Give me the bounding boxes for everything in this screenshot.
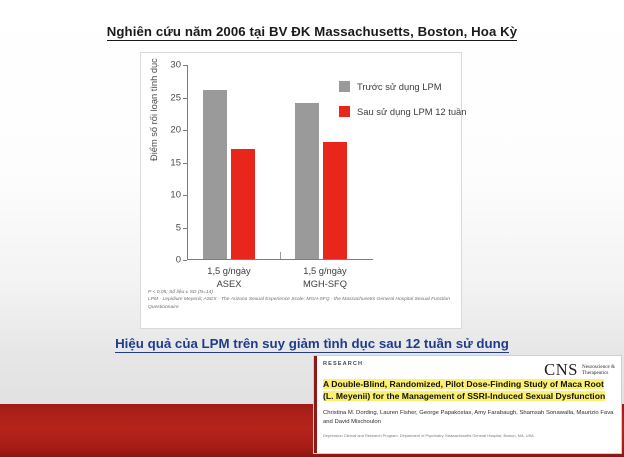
chart-y-axis [187,65,188,260]
slide-title-text: Nghiên cứu năm 2006 tại BV ĐK Massachuse… [107,24,517,41]
cns-wordmark: CNS [544,362,578,378]
slide-title: Nghiên cứu năm 2006 tại BV ĐK Massachuse… [0,24,624,39]
chart-legend: Trước sử dụng LPM Sau sử dụng LPM 12 tuầ… [339,81,466,131]
bar-asex-before [203,90,227,259]
bar-asex-after [231,149,255,260]
chart-y-axis-title: Điểm số rối loạn tình dục [149,58,159,161]
paper-authors: Christina M. Dording, Lauren Fisher, Geo… [323,409,615,426]
cns-logo-subtitle-line2: Therapeutics [582,370,615,376]
presentation-slide: Nghiên cứu năm 2006 tại BV ĐK Massachuse… [0,0,624,457]
chart-panel: Điểm số rối loạn tình dục 0 5 10 15 20 2… [140,52,462,329]
legend-swatch-after-icon [339,106,350,117]
cns-journal-logo: CNS Neuroscience & Therapeutics [544,362,615,378]
legend-item-before: Trước sử dụng LPM [339,81,466,92]
legend-item-after: Sau sử dụng LPM 12 tuần [339,106,466,117]
chart-category-mghsfq: 1,5 g/ngày MGH-SFQ [279,265,371,291]
legend-swatch-before-icon [339,81,350,92]
chart-category-asex: 1,5 g/ngày ASEX [183,265,275,291]
slide-subtitle: Hiệu quả của LPM trên suy giảm tình dục … [0,336,624,351]
chart-group-divider [280,252,281,259]
legend-label-before: Trước sử dụng LPM [357,81,442,92]
paper-title-text: A Double-Blind, Randomized, Pilot Dose-F… [323,379,605,401]
chart-footnote-abbreviations: LPM - Lepidium Meyenii; ASEX - The Arizo… [148,296,456,303]
chart-footnote-significance: P < 0,05; Số liệu ± SD (N=14) [148,289,456,296]
chart-category-mghsfq-dose: 1,5 g/ngày [279,265,371,278]
legend-label-after: Sau sử dụng LPM 12 tuần [357,106,466,117]
paper-content: RESEARCH CNS Neuroscience & Therapeutics… [323,361,615,439]
chart-footnote-abbreviations-cont: Questionnaire [148,304,456,311]
chart-category-asex-dose: 1,5 g/ngày [183,265,275,278]
paper-citation-card: RESEARCH CNS Neuroscience & Therapeutics… [313,355,622,454]
paper-accent-rule [314,356,317,453]
bar-mghsfq-after [323,142,347,259]
chart-footnotes: P < 0,05; Số liệu ± SD (N=14) LPM - Lepi… [148,289,456,311]
paper-title: A Double-Blind, Randomized, Pilot Dose-F… [323,378,615,402]
cns-logo-subtitle: Neuroscience & Therapeutics [582,364,615,376]
paper-affiliation: Depression Clinical and Research Program… [323,433,615,439]
bar-mghsfq-before [295,103,319,259]
slide-subtitle-text: Hiệu quả của LPM trên suy giảm tình dục … [115,336,509,353]
